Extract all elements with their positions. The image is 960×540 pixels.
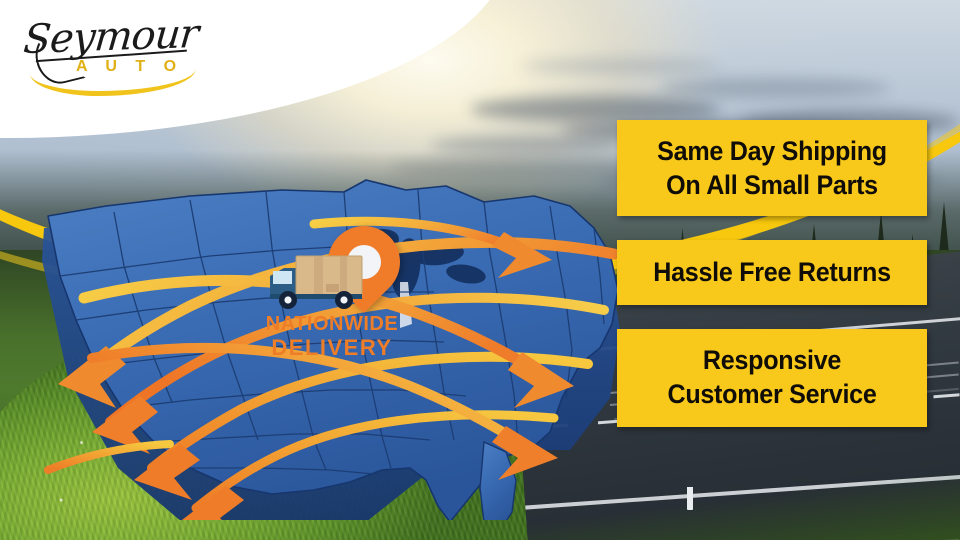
promo-banner: Seymour A U T O xyxy=(0,0,960,540)
brand-name: Seymour xyxy=(22,11,200,63)
benefit-line: Responsive xyxy=(633,343,910,377)
delivery-label-line1: NATIONWIDE xyxy=(252,314,412,336)
benefit-line: Hassle Free Returns xyxy=(633,255,910,289)
delivery-truck-icon xyxy=(268,248,380,312)
brand-logo[interactable]: Seymour A U T O xyxy=(18,12,218,94)
benefit-line: Same Day Shipping xyxy=(633,134,910,168)
delivery-label: NATIONWIDE DELIVERY xyxy=(252,314,412,359)
nationwide-delivery-badge: NATIONWIDE DELIVERY xyxy=(252,222,412,370)
roadside-marker-post xyxy=(687,480,693,510)
delivery-label-line2: DELIVERY xyxy=(252,336,412,360)
brand-subtitle: A U T O xyxy=(76,58,183,76)
benefit-line: Customer Service xyxy=(633,377,910,411)
benefit-box-same-day-shipping[interactable]: Same Day Shipping On All Small Parts xyxy=(617,120,927,216)
benefit-line: On All Small Parts xyxy=(633,168,910,202)
benefit-box-hassle-free-returns[interactable]: Hassle Free Returns xyxy=(617,240,927,305)
benefit-box-group: Same Day Shipping On All Small Parts Has… xyxy=(617,120,927,427)
benefit-box-responsive-customer-service[interactable]: Responsive Customer Service xyxy=(617,329,927,427)
